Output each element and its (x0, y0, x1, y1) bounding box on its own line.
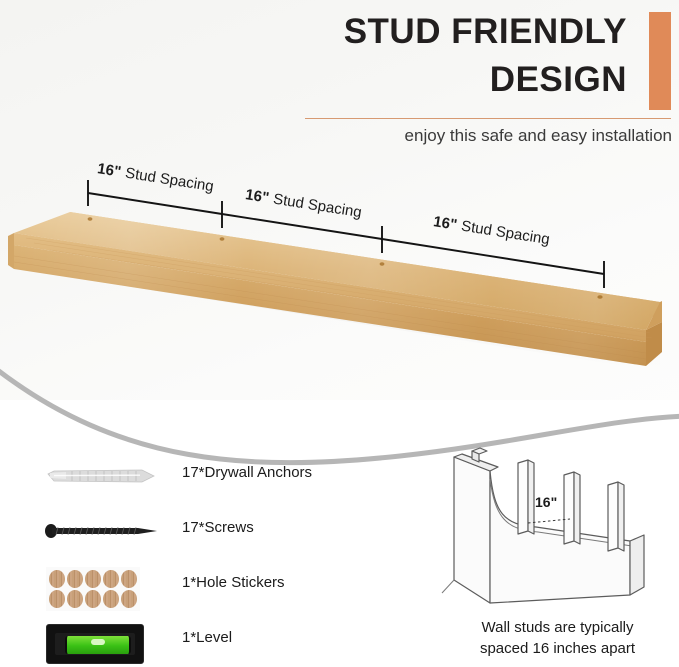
stud-measure-label: 16" (535, 494, 557, 510)
list-item: 1*Hole Stickers (0, 565, 400, 620)
list-item: 1*Level (0, 620, 400, 667)
list-item: 17*Drywall Anchors (0, 455, 400, 510)
part-label: 1*Level (182, 629, 232, 646)
part-label: 1*Hole Stickers (182, 574, 285, 591)
stud-caption-line-1: Wall studs are typically (436, 617, 679, 638)
drywall-anchor-icon (42, 455, 162, 503)
part-label: 17*Drywall Anchors (182, 464, 312, 481)
bubble-level-icon (42, 620, 162, 667)
stud-caption-line-2: spaced 16 inches apart (436, 638, 679, 659)
stud-diagram-caption: Wall studs are typically spaced 16 inche… (436, 617, 679, 659)
wall-stud-diagram: 16" (432, 435, 677, 625)
list-item: 17*Screws (0, 510, 400, 565)
product-infographic: STUD FRIENDLY DESIGN enjoy this safe and… (0, 0, 679, 667)
hole-stickers-icon (42, 565, 162, 613)
parts-list: 17*Drywall Anchors 17*Scre (0, 455, 400, 667)
part-label: 17*Screws (182, 519, 254, 536)
screw-icon (42, 510, 162, 558)
